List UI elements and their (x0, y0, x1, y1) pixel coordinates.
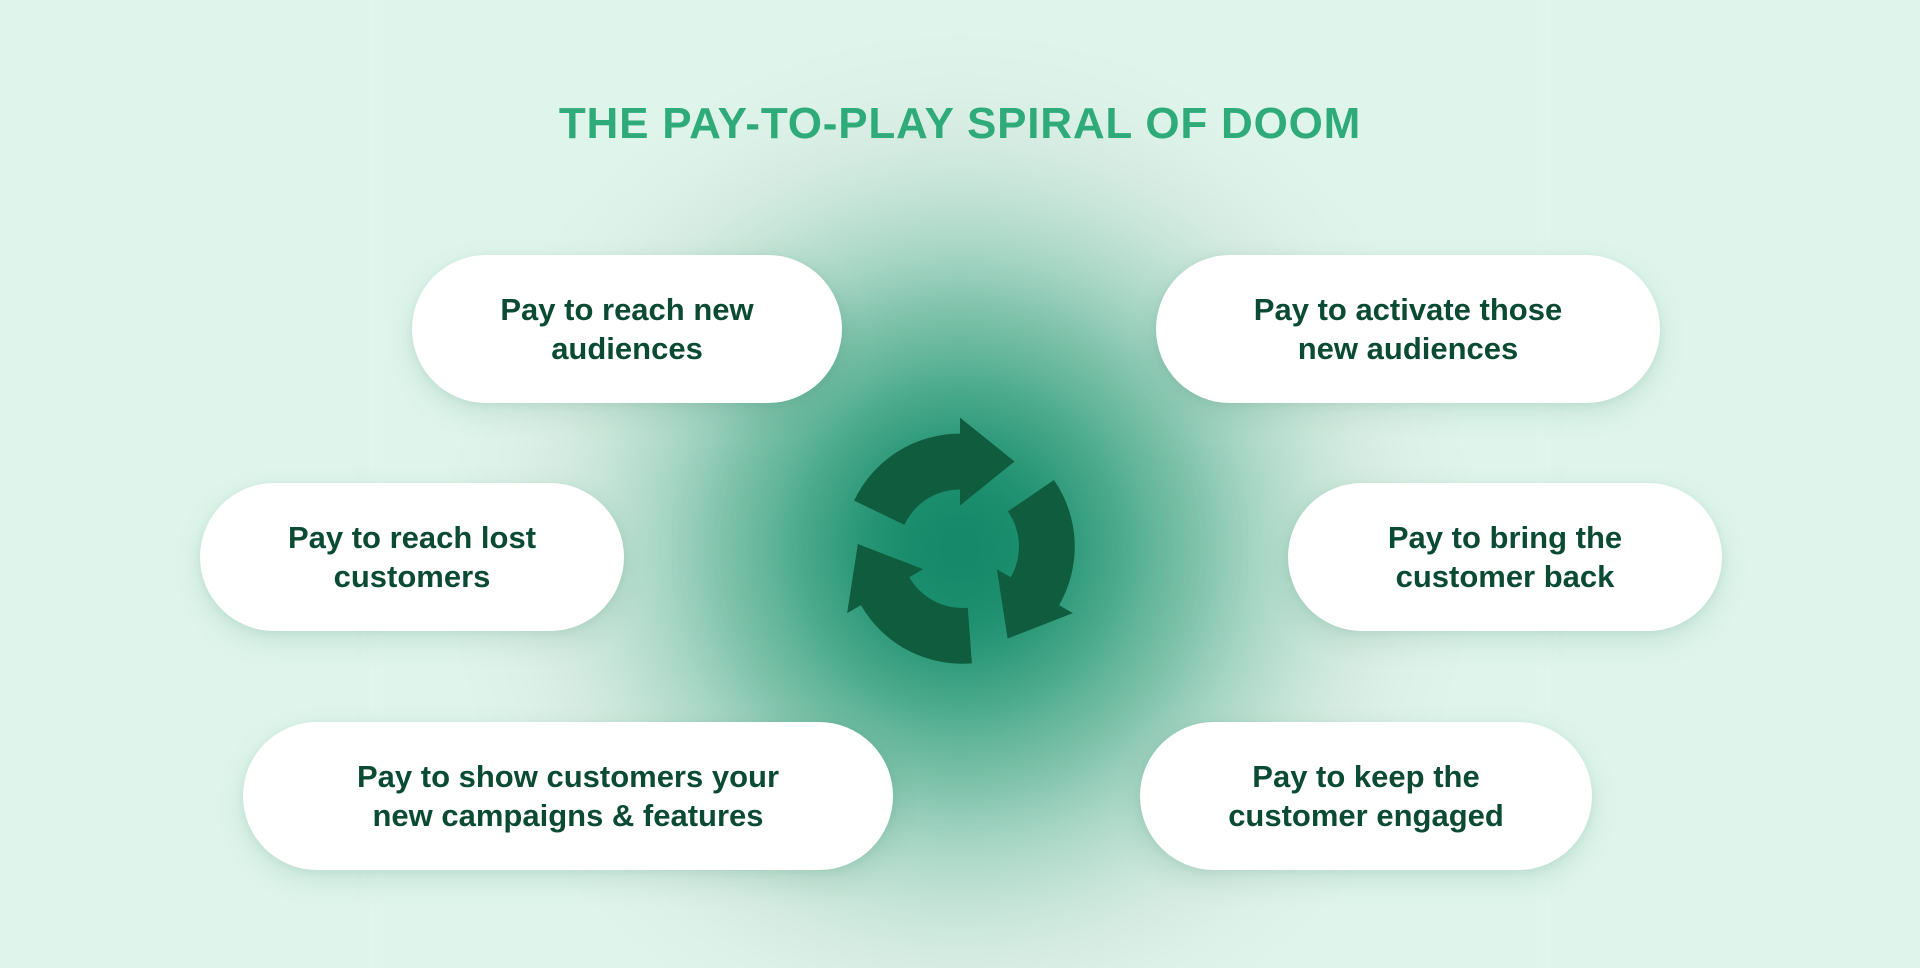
pill-line-2: new audiences (1254, 329, 1562, 368)
pill-pay-to-keep-the-customer-engaged: Pay to keep the customer engaged (1140, 722, 1592, 870)
infographic-canvas: THE PAY-TO-PLAY SPIRAL OF DOOM Pay to re… (0, 0, 1920, 968)
pill-line-2: customer engaged (1228, 796, 1504, 835)
pill-line-2: new campaigns & features (357, 796, 779, 835)
pill-pay-to-activate-those-new-audiences: Pay to activate those new audiences (1156, 255, 1660, 403)
pill-line-1: Pay to keep the (1228, 757, 1504, 796)
pill-line-2: audiences (500, 329, 753, 368)
pill-pay-to-reach-lost-customers: Pay to reach lost customers (200, 483, 624, 631)
pill-line-1: Pay to reach lost (288, 518, 536, 557)
pill-pay-to-show-customers-new-campaigns: Pay to show customers your new campaigns… (243, 722, 893, 870)
pill-pay-to-reach-new-audiences: Pay to reach new audiences (412, 255, 842, 403)
pill-line-1: Pay to activate those (1254, 290, 1562, 329)
pill-line-1: Pay to bring the (1388, 518, 1622, 557)
pill-line-1: Pay to show customers your (357, 757, 779, 796)
pill-line-1: Pay to reach new (500, 290, 753, 329)
pill-line-2: customers (288, 557, 536, 596)
recycle-cycle-arrows-icon (827, 415, 1093, 681)
pill-line-2: customer back (1388, 557, 1622, 596)
pill-pay-to-bring-the-customer-back: Pay to bring the customer back (1288, 483, 1722, 631)
page-title: THE PAY-TO-PLAY SPIRAL OF DOOM (0, 100, 1920, 148)
